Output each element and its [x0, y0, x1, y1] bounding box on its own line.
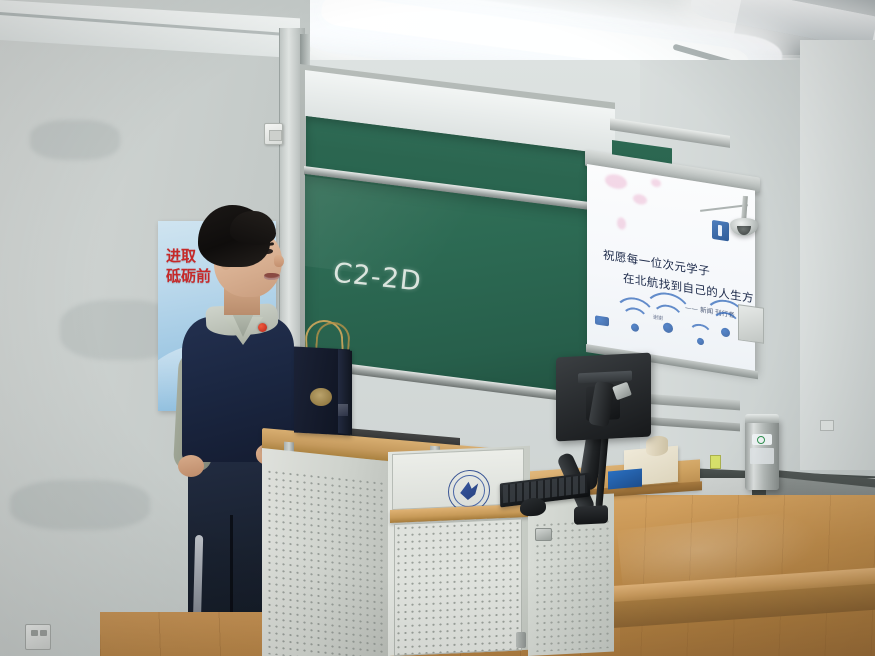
wall-sticker — [710, 455, 721, 469]
projector-screen[interactable]: 祝愿每一位次元学子 在北航找到自己的人生方向 —— 新闻 刊行者 谢谢 — [587, 164, 755, 374]
wall-control-panel[interactable] — [738, 304, 764, 344]
slide-decoration — [651, 178, 661, 188]
podium-door-handle[interactable] — [516, 632, 526, 648]
slide-decoration — [633, 193, 647, 205]
gift-bag-side — [338, 349, 352, 435]
slide-footer-mark — [595, 315, 609, 326]
wifi-icon-arc — [642, 289, 694, 349]
presenter-hand-right — [178, 455, 204, 477]
wall-stain — [10, 480, 150, 530]
gift-bag-tag — [338, 404, 348, 416]
blue-box — [608, 469, 642, 490]
presenter-hair-fringe — [230, 211, 276, 245]
wall-outlet[interactable] — [25, 624, 51, 650]
recycling-bin-lid — [745, 414, 779, 423]
podium-lock-icon[interactable] — [535, 528, 552, 541]
right-wall-column — [800, 40, 875, 470]
monitor-desk-clamp — [574, 505, 608, 525]
light-switch[interactable] — [264, 123, 283, 145]
slide-decoration — [605, 173, 627, 190]
wall-stain — [30, 120, 120, 160]
classroom-photo: C2-2D 祝愿每一位次元学子 在北航找到自己的人生方向 —— 新闻 刊行者 谢… — [0, 0, 875, 656]
recycle-icon — [757, 436, 765, 444]
podium-front-lower-panel[interactable] — [394, 518, 522, 656]
party-badge-icon — [258, 323, 267, 332]
slide-decoration — [617, 217, 626, 230]
wall-outlet-right[interactable] — [820, 420, 834, 431]
recycling-bin-sublabel — [750, 448, 774, 464]
podium-perforation-left — [266, 468, 386, 656]
slide-logo-icon — [712, 220, 729, 242]
presenter-nose — [274, 255, 284, 267]
gift-bag-emblem-icon — [310, 388, 332, 406]
